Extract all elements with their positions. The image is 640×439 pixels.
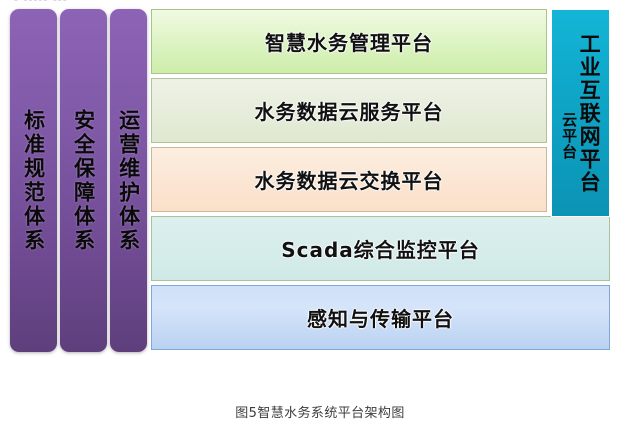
pillar-security-system[interactable]: 安全保障体系 xyxy=(60,9,107,352)
pillar-label: 运营维护体系 xyxy=(117,109,139,253)
layer-water-data-cloud-exchange-platform[interactable]: 水务数据云交换平台 xyxy=(151,147,547,212)
pillar-operations-system[interactable]: 运营维护体系 xyxy=(110,9,147,352)
layer-label: 水务数据云服务平台 xyxy=(255,96,444,125)
layer-smart-water-management-platform[interactable]: 智慧水务管理平台 xyxy=(151,9,547,74)
pillar-label: 标准规范体系 xyxy=(22,109,44,253)
pillar-label: 安全保障体系 xyxy=(72,109,94,253)
layer-water-data-cloud-service-platform[interactable]: 水务数据云服务平台 xyxy=(151,78,547,143)
layer-label: 智慧水务管理平台 xyxy=(265,27,433,56)
pillar-standards-system[interactable]: 标准规范体系 xyxy=(10,9,57,352)
layer-scada-monitoring-platform[interactable]: Scada综合监控平台 xyxy=(151,216,610,281)
layer-label: 水务数据云交换平台 xyxy=(255,165,444,194)
top-cropped-text: - ----- --- xyxy=(14,0,68,1)
cloud-panel-sub-label: 云平台 xyxy=(561,112,577,160)
layer-label: 感知与传输平台 xyxy=(307,303,454,332)
cloud-panel-main-label: 工业互联网平台 xyxy=(578,33,600,194)
figure-caption: 图5智慧水务系统平台架构图 xyxy=(0,402,640,421)
layer-label: Scada综合监控平台 xyxy=(281,234,480,263)
industrial-internet-cloud-panel[interactable]: 工业互联网平台 云平台 xyxy=(551,9,610,217)
architecture-diagram: - ----- --- 标准规范体系 安全保障体系 运营维护体系 智慧水务管理平… xyxy=(0,0,640,439)
layer-sensing-and-transmission-platform[interactable]: 感知与传输平台 xyxy=(151,285,610,350)
